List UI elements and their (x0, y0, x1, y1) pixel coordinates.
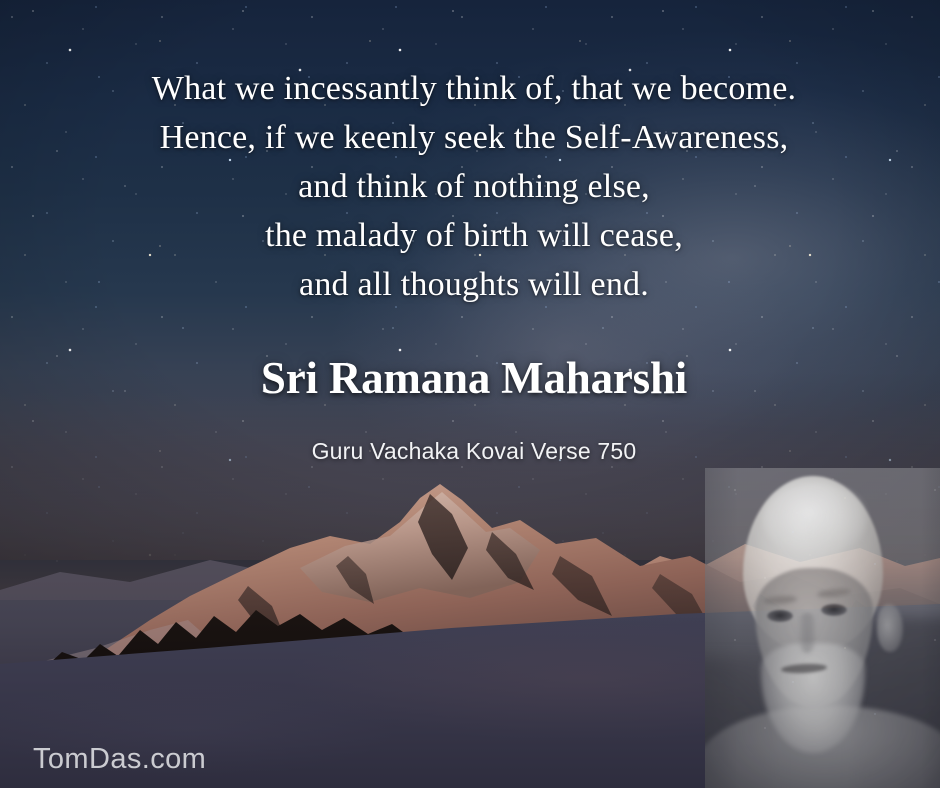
quote-line-1: What we incessantly think of, that we be… (60, 64, 888, 113)
quote-poster: What we incessantly think of, that we be… (0, 0, 940, 788)
quote-block: What we incessantly think of, that we be… (60, 64, 888, 309)
quote-line-3: and think of nothing else, (60, 162, 888, 211)
source-reference: Guru Vachaka Kovai Verse 750 (60, 437, 888, 466)
text-layer: What we incessantly think of, that we be… (0, 0, 940, 788)
quote-line-2: Hence, if we keenly seek the Self-Awaren… (60, 113, 888, 162)
site-watermark: TomDas.com (33, 742, 206, 776)
author-name: Sri Ramana Maharshi (60, 352, 888, 404)
quote-line-4: the malady of birth will cease, (60, 211, 888, 260)
quote-line-5: and all thoughts will end. (60, 260, 888, 309)
